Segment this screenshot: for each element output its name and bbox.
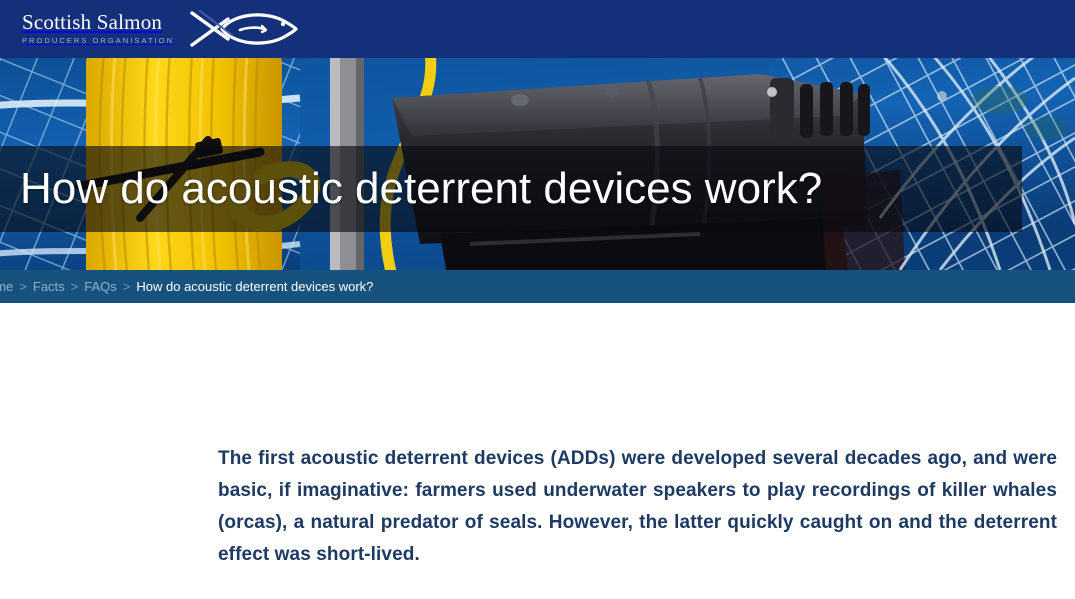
hero-banner: How do acoustic deterrent devices work?: [0, 58, 1075, 270]
page-title: How do acoustic deterrent devices work?: [20, 146, 1022, 232]
breadcrumb-separator: >: [123, 279, 131, 294]
breadcrumb-item-home[interactable]: ome: [0, 279, 13, 294]
breadcrumb-separator: >: [19, 279, 27, 294]
breadcrumb-list: ome > Facts > FAQs > How do acoustic det…: [0, 279, 373, 294]
article-paragraph: The first acoustic deterrent devices (AD…: [218, 443, 1057, 571]
brand-name: Scottish Salmon: [22, 11, 174, 33]
breadcrumb-item-facts[interactable]: Facts: [33, 279, 65, 294]
main-content: The first acoustic deterrent devices (AD…: [0, 303, 1075, 599]
site-logo-link[interactable]: Scottish Salmon PRODUCERS ORGANISATION: [22, 8, 298, 50]
brand-subtitle: PRODUCERS ORGANISATION: [22, 36, 174, 45]
breadcrumb-item-current: How do acoustic deterrent devices work?: [136, 279, 373, 294]
fish-logo-icon: [188, 8, 298, 50]
brand-wordmark: Scottish Salmon PRODUCERS ORGANISATION: [22, 11, 174, 47]
breadcrumb: ome > Facts > FAQs > How do acoustic det…: [0, 270, 1075, 303]
site-header: Scottish Salmon PRODUCERS ORGANISATION: [0, 0, 1075, 58]
breadcrumb-separator: >: [71, 279, 79, 294]
article-body: The first acoustic deterrent devices (AD…: [218, 443, 1057, 571]
breadcrumb-item-faqs[interactable]: FAQs: [84, 279, 117, 294]
